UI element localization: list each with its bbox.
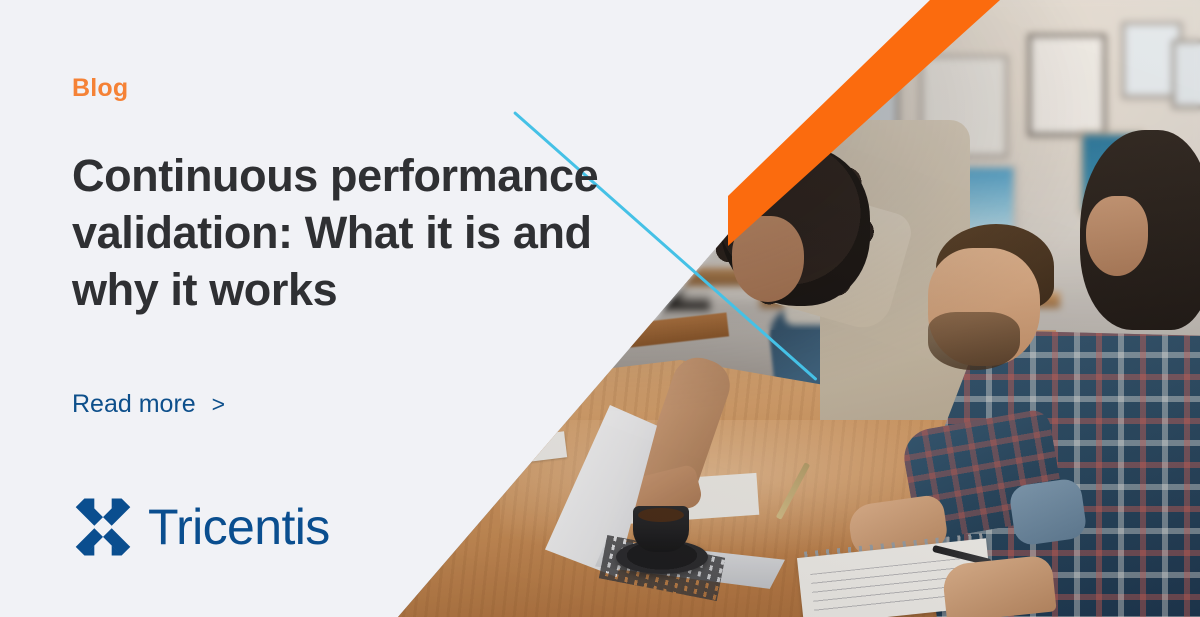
- coffee-surface: [638, 508, 684, 522]
- pen: [496, 442, 530, 452]
- tricentis-wordmark: Tricentis: [148, 502, 330, 552]
- plant-pot: [390, 412, 450, 480]
- wall-frame: [1028, 34, 1106, 136]
- right-woman-face: [1086, 196, 1148, 276]
- man-beard: [928, 312, 1020, 370]
- eyebrow-label: Blog: [72, 76, 692, 101]
- tricentis-logo[interactable]: Tricentis: [72, 496, 330, 558]
- blog-promo-banner: Blog Continuous performance validation: …: [0, 0, 1200, 617]
- read-more-label: Read more: [72, 392, 196, 417]
- page-title: Continuous performance validation: What …: [72, 147, 672, 318]
- read-more-link[interactable]: Read more >: [72, 392, 225, 417]
- chevron-right-icon: >: [212, 393, 225, 416]
- tricentis-x-mark: [72, 496, 134, 558]
- banner-content: Blog Continuous performance validation: …: [72, 76, 692, 417]
- man-rolled-cuff: [1008, 477, 1088, 546]
- wall-frame: [1172, 40, 1200, 108]
